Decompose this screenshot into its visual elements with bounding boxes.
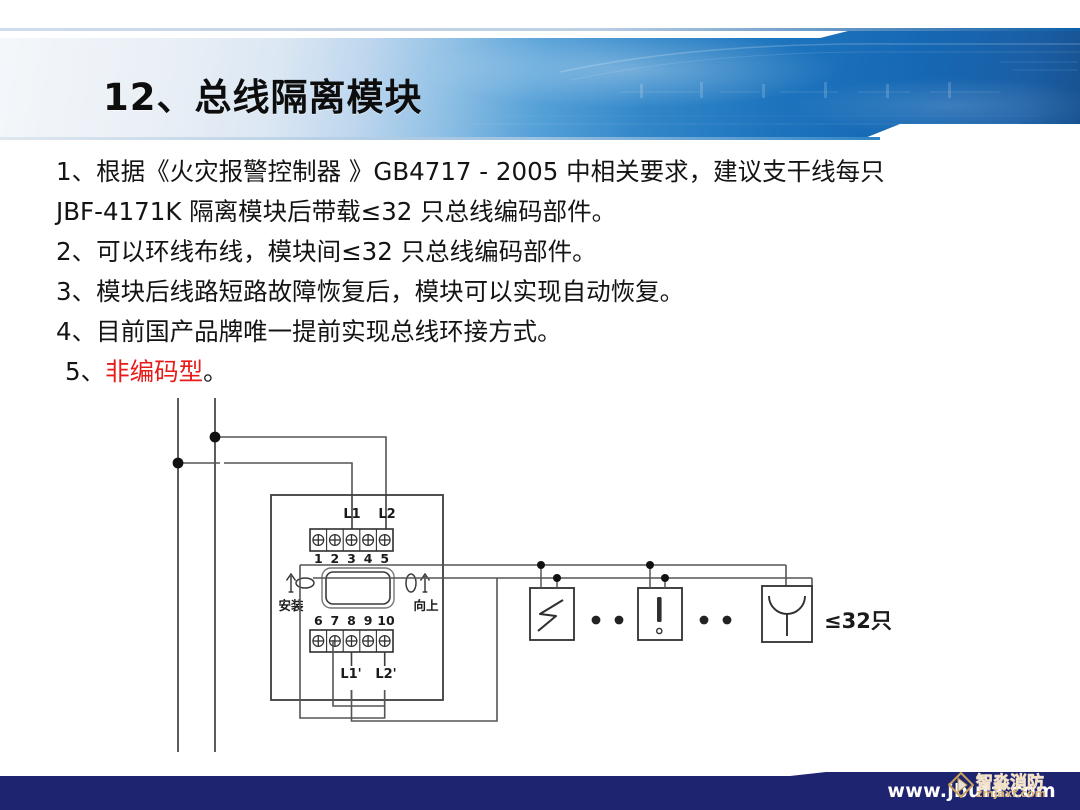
- banner-bottom-edge: [0, 137, 880, 140]
- lightning-icon: [538, 600, 563, 631]
- body-text-block: 1、根据《火灾报警控制器 》GB4717 - 2005 中相关要求，建议支干线每…: [56, 152, 1016, 392]
- loop-wire-l2p-left-return: [333, 640, 385, 706]
- slide-canvas: 12、总线隔离模块 1、根据《火灾报警控制器 》GB4717 - 2005 中相…: [0, 0, 1080, 810]
- item5-number: 5、: [65, 357, 105, 386]
- terminal-label-l1p: L1': [340, 667, 361, 682]
- terminal-label-l2p: L2': [375, 667, 396, 682]
- terminal-number-8: 8: [347, 613, 356, 628]
- exclamation-icon: [657, 597, 662, 634]
- manual-call-point-device: [638, 561, 682, 640]
- terminal-number-10: 10: [377, 613, 395, 628]
- terminal-strip-top: [310, 529, 393, 551]
- body-paragraph-1: 1、根据《火灾报警控制器 》GB4717 - 2005 中相关要求，建议支干线每…: [56, 152, 1016, 192]
- loop-wire-l1p: [352, 578, 498, 721]
- terminal-number-7: 7: [331, 613, 340, 628]
- banner-top-edge: [0, 28, 1080, 31]
- branch-wire-l2: [215, 437, 386, 512]
- capacity-label: ≤32只: [824, 609, 892, 633]
- body-paragraph-2: 2、可以环线布线，模块间≤32 只总线编码部件。: [56, 232, 1016, 272]
- call-point-body: [638, 588, 682, 640]
- item5-tail: 。: [203, 357, 228, 386]
- body-paragraph-3: 3、模块后线路短路故障恢复后，模块可以实现自动恢复。: [56, 272, 1016, 312]
- up-label: 向上: [413, 598, 439, 613]
- terminal-numbers-bottom: 6 7 8 9 10: [314, 613, 395, 628]
- junction-dot-right-trunk: [210, 432, 221, 443]
- terminal-number-9: 9: [364, 613, 373, 628]
- terminal-label-l1: L1: [343, 507, 360, 522]
- slide-footer: www.jbufa.com: [0, 772, 1080, 810]
- terminal-number-3: 3: [347, 551, 356, 566]
- strobe-junction-upper: [537, 561, 545, 569]
- terminal-strip-bottom: [310, 630, 393, 652]
- terminal-label-l2: L2: [378, 507, 395, 522]
- horn-device: [762, 586, 812, 642]
- body-paragraph-1-cont: JBF-4171K 隔离模块后带载≤32 只总线编码部件。: [56, 192, 1016, 232]
- body-paragraph-5: 5、非编码型。: [65, 352, 1016, 392]
- mounting-slot-left: [296, 578, 314, 588]
- terminal-number-4: 4: [364, 551, 373, 566]
- install-arrow-icon: [287, 574, 296, 592]
- page-title: 12、总线隔离模块: [103, 67, 423, 121]
- module-window-inner: [326, 572, 390, 604]
- watermark-subtitle: zmjaxf.com: [976, 787, 1046, 800]
- call-point-junction-upper: [646, 561, 654, 569]
- horn-device-body: [762, 586, 812, 642]
- junction-dot-left-trunk: [173, 458, 184, 469]
- watermark-logo-icon: [948, 772, 974, 798]
- bell-icon: [769, 596, 805, 636]
- mounting-slot-right: [406, 574, 416, 592]
- loop-rail-upper-return: [300, 565, 385, 718]
- terminal-number-6: 6: [314, 613, 323, 628]
- ellipsis-dots-left: [592, 616, 624, 625]
- terminal-number-5: 5: [380, 551, 389, 566]
- body-paragraph-4: 4、目前国产品牌唯一提前实现总线环接方式。: [56, 312, 1016, 352]
- ellipsis-dots-right: [700, 616, 732, 625]
- module-window-outer: [322, 568, 394, 608]
- strobe-junction-lower: [553, 574, 561, 582]
- item5-highlight: 非编码型: [105, 357, 203, 386]
- terminal-numbers-top: 1 2 3 4 5: [314, 551, 389, 566]
- branch-wire-l1: [178, 463, 352, 512]
- strobe-device-body: [530, 588, 574, 640]
- terminal-number-2: 2: [331, 551, 340, 566]
- device-chain: ≤32只: [530, 561, 892, 642]
- install-label: 安装: [278, 598, 304, 613]
- module-faceplate: [271, 495, 443, 700]
- isolator-module: L1 L2: [271, 495, 443, 700]
- terminal-number-1: 1: [314, 551, 323, 566]
- up-arrow-icon: [421, 574, 430, 592]
- call-point-junction-lower: [661, 574, 669, 582]
- strobe-device: [530, 561, 574, 640]
- watermark: 智淼消防 zmjaxf.com: [948, 762, 1076, 806]
